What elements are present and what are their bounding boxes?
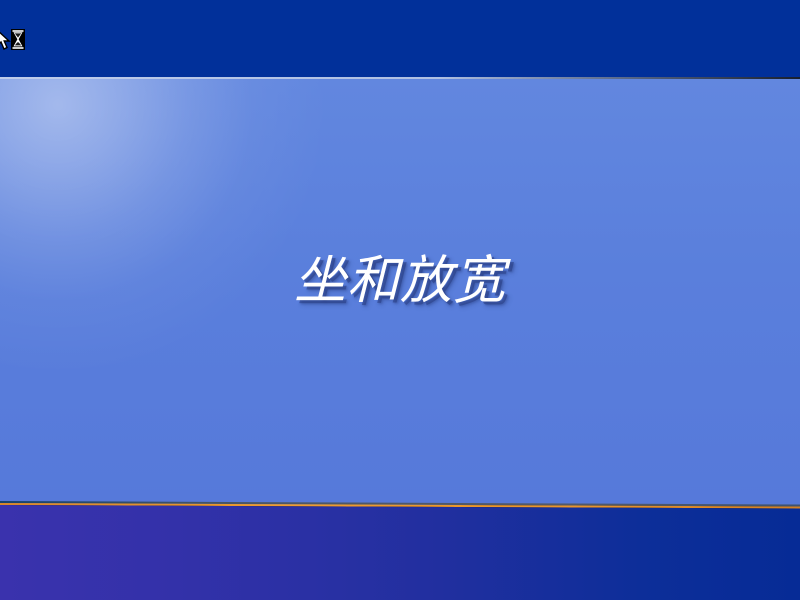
top-bar <box>0 0 800 77</box>
slide-background <box>0 79 800 505</box>
hourglass-icon <box>11 29 25 50</box>
top-bar-highlight-divider <box>0 77 800 79</box>
footer-band <box>0 490 800 600</box>
footer-band-graphic <box>0 490 800 600</box>
arrow-hourglass-busy-cursor <box>0 28 30 54</box>
screen-root: 坐和放宽 <box>0 0 800 600</box>
cursor-arrow-icon <box>0 29 9 49</box>
